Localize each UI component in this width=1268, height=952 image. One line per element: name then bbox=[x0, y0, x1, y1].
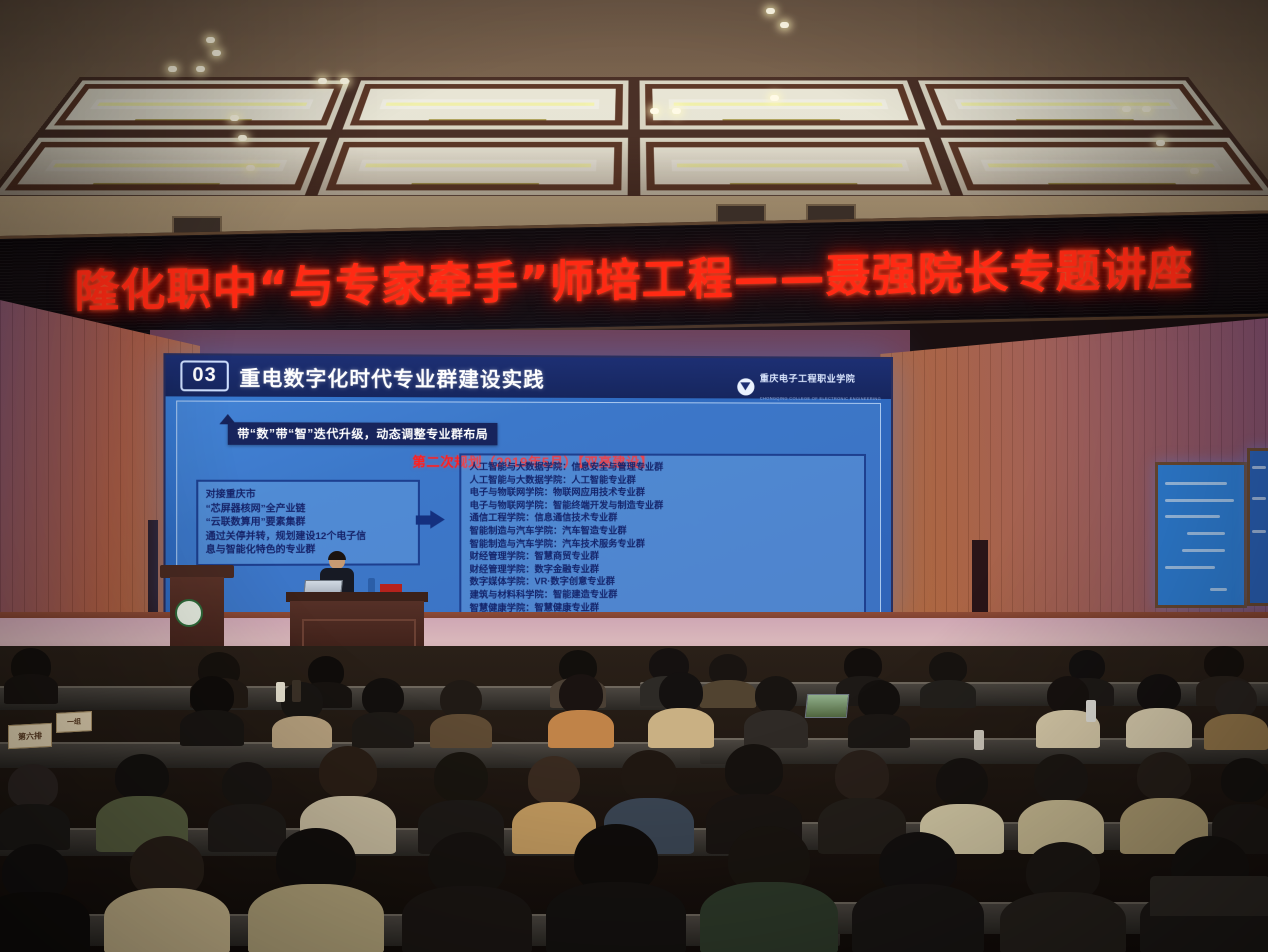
audience-member bbox=[744, 676, 808, 748]
row-placard: 一组 bbox=[56, 711, 92, 733]
program-group-item: 电子与物联网学院：物联网应用技术专业群 bbox=[470, 486, 856, 499]
left-callout-line: 通过关停并转，规划建设12个电子信 bbox=[206, 529, 411, 543]
water-bottle bbox=[1086, 700, 1096, 722]
right-arrow-icon bbox=[416, 510, 445, 528]
audience-member bbox=[1018, 754, 1104, 854]
school-name-en: CHONGQING COLLEGE OF ELECTRONIC ENGINEER… bbox=[760, 395, 881, 400]
water-bottle bbox=[276, 682, 285, 702]
program-group-item: 人工智能与大数据学院：信息安全与管理专业群 bbox=[470, 461, 856, 474]
audience-member bbox=[548, 674, 614, 748]
row-placard: 第六排 bbox=[8, 723, 52, 749]
program-group-list: 人工智能与大数据学院：信息安全与管理专业群 人工智能与大数据学院：人工智能专业群… bbox=[459, 453, 866, 621]
audience-member bbox=[1204, 680, 1268, 750]
audience-member bbox=[104, 836, 230, 952]
audience-member bbox=[180, 676, 244, 746]
left-callout-line: “云联数算用”要素集群 bbox=[206, 515, 411, 529]
presentation-slide: 03 重电数字化时代专业群建设实践 重庆电子工程职业学院 CHONGQING C… bbox=[166, 355, 891, 625]
left-callout-line: 息与智能化特色的专业群 bbox=[206, 543, 411, 557]
audience-member bbox=[848, 680, 910, 748]
slide-body: 带“数”带“智”迭代升级，动态调整专业群布局 第二次规划（2019年5月）【双高… bbox=[176, 401, 881, 617]
projection-screen: 03 重电数字化时代专业群建设实践 重庆电子工程职业学院 CHONGQING C… bbox=[163, 353, 893, 627]
audience-area: 第六排 一组 bbox=[0, 646, 1268, 952]
audience-member bbox=[0, 764, 70, 850]
slide-header: 03 重电数字化时代专业群建设实践 重庆电子工程职业学院 CHONGQING C… bbox=[166, 355, 891, 399]
secondary-display-far-right bbox=[1247, 448, 1268, 606]
audience-member bbox=[352, 678, 414, 748]
audience-member bbox=[402, 832, 532, 952]
school-name: 重庆电子工程职业学院 bbox=[760, 373, 856, 383]
seat-back bbox=[1150, 876, 1268, 916]
left-callout-line: “芯屏器核网”全产业链 bbox=[206, 502, 411, 516]
audience-member bbox=[546, 824, 686, 952]
slide-section-number: 03 bbox=[180, 360, 228, 391]
audience-member bbox=[700, 826, 838, 952]
slide-subtitle-banner: 带“数”带“智”迭代升级，动态调整专业群布局 bbox=[228, 422, 498, 445]
audience-member bbox=[430, 680, 492, 748]
school-logo: 重庆电子工程职业学院 CHONGQING COLLEGE OF ELECTRON… bbox=[738, 368, 881, 405]
thermos bbox=[974, 730, 984, 750]
program-group-item: 电子与物联网学院：智能终端开发与制造专业群 bbox=[470, 499, 856, 512]
audience-laptop bbox=[805, 694, 850, 718]
audience-member bbox=[1000, 842, 1126, 952]
podium-crest-icon bbox=[175, 599, 203, 627]
program-group-item: 智能制造与汽车学院：汽车智造专业群 bbox=[470, 524, 856, 537]
water-bottle bbox=[292, 680, 301, 702]
program-group-item: 人工智能与大数据学院：人工智能专业群 bbox=[470, 473, 856, 486]
left-callout-line: 对接重庆市 bbox=[206, 488, 411, 502]
slide-header-title: 重电数字化时代专业群建设实践 bbox=[239, 361, 544, 392]
program-group-item: 智能制造与汽车学院：汽车技术服务专业群 bbox=[470, 537, 856, 551]
audience-member bbox=[648, 672, 714, 748]
left-callout-box: 对接重庆市 “芯屏器核网”全产业链 “云联数算用”要素集群 通过关停并转，规划建… bbox=[196, 480, 420, 566]
lecture-hall-photo: 隆化职中“与专家牵手”师培工程——聂强院长专题讲座 03 重电数字化时代专业群建… bbox=[0, 0, 1268, 952]
secondary-display bbox=[1155, 462, 1247, 608]
audience-member bbox=[4, 648, 58, 704]
audience-member bbox=[0, 844, 90, 952]
school-crest-icon bbox=[738, 378, 755, 395]
audience-member bbox=[852, 832, 984, 952]
audience-member bbox=[1126, 674, 1192, 748]
program-group-item: 财经管理学院：智慧商贸专业群 bbox=[470, 549, 856, 563]
audience-member bbox=[248, 828, 384, 952]
audience-member bbox=[920, 652, 976, 708]
program-group-item: 通信工程学院：信息通信技术专业群 bbox=[470, 511, 856, 524]
